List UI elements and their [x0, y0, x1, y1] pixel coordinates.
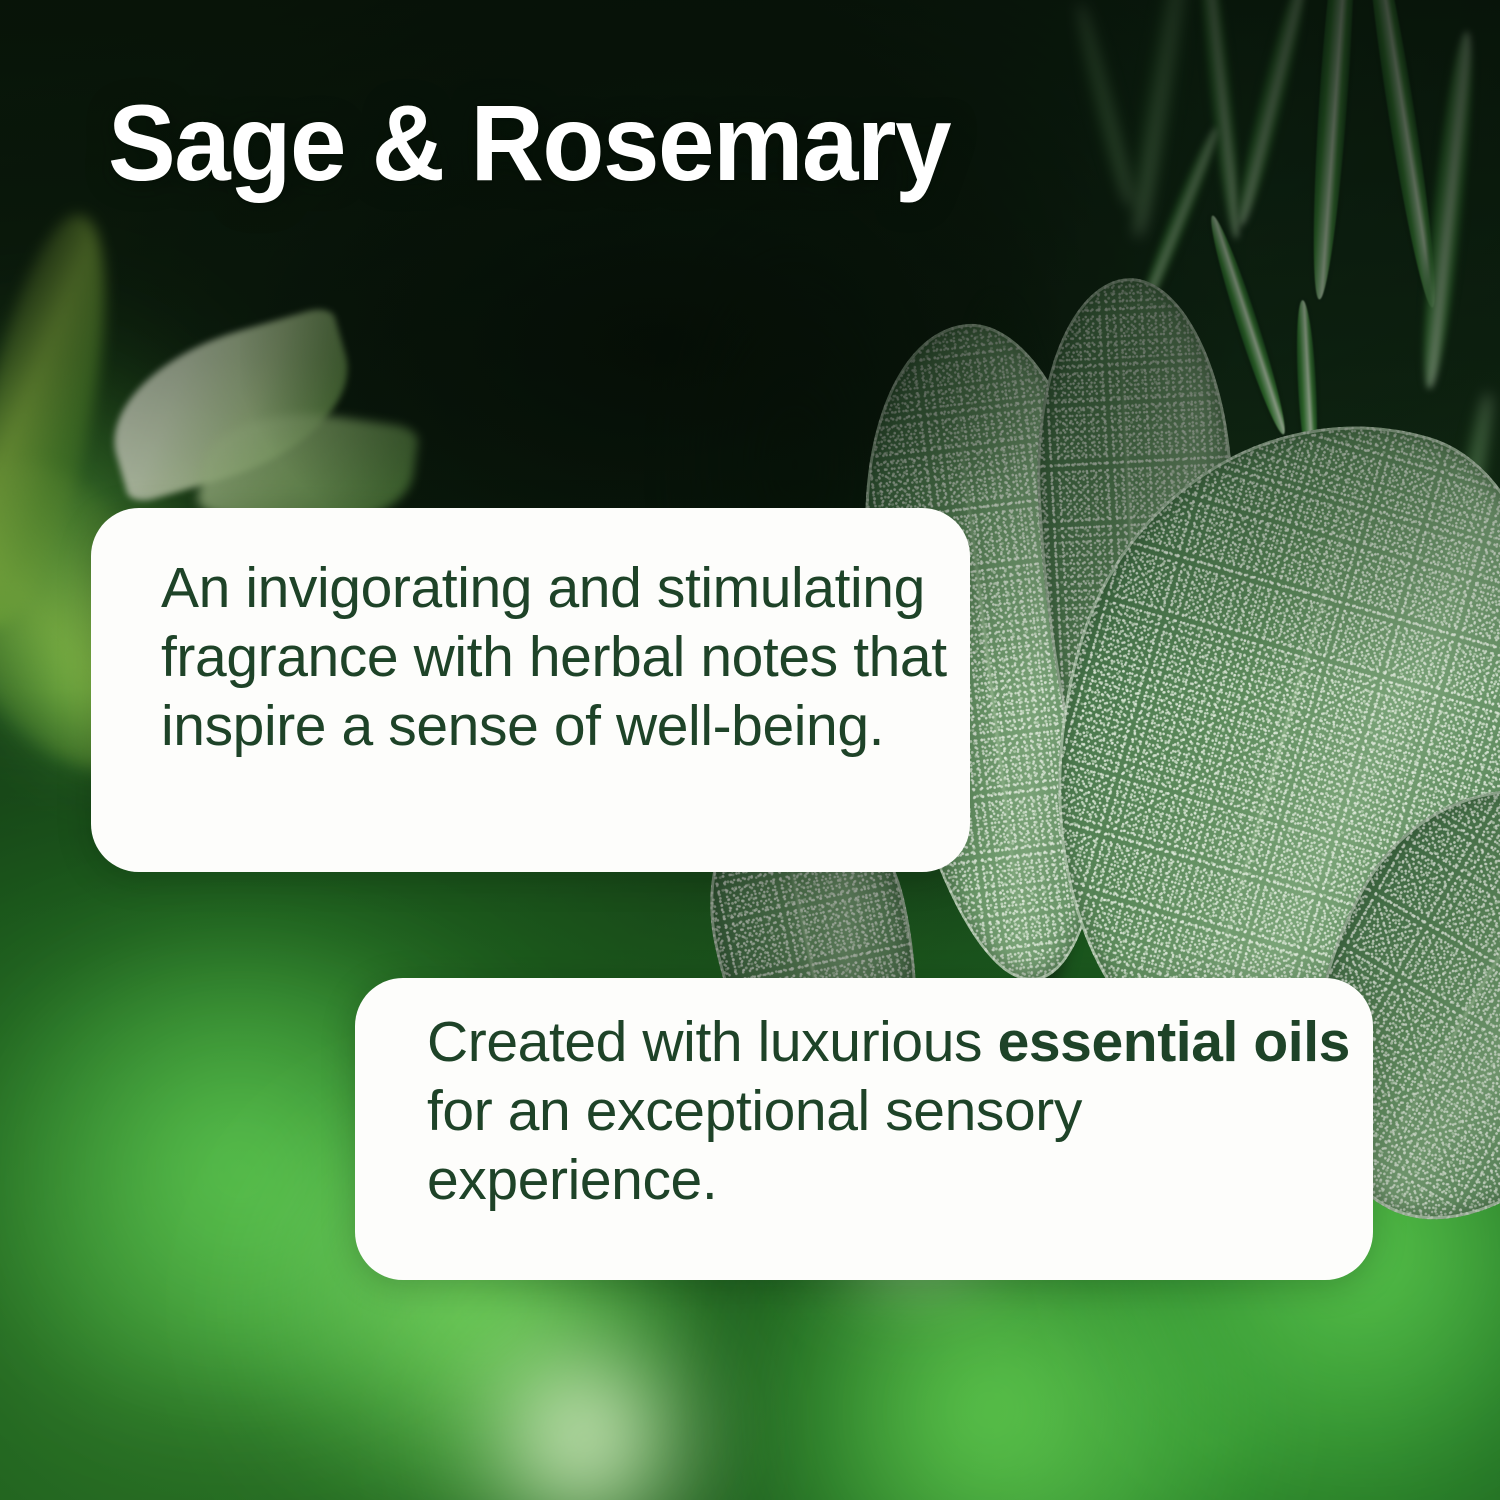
essential-oils-text-tail: for an exceptional sensory experience.	[427, 1079, 1082, 1212]
fragrance-description-card: An invigorating and stimulating fragranc…	[91, 508, 970, 872]
essential-oils-text: Created with luxurious essential oils fo…	[427, 1008, 1357, 1215]
essential-oils-card: Created with luxurious essential oils fo…	[355, 978, 1373, 1280]
essential-oils-emphasis: essential oils	[998, 1010, 1350, 1074]
fragrance-description-text: An invigorating and stimulating fragranc…	[161, 554, 951, 761]
product-feature-image: Sage & Rosemary An invigorating and stim…	[0, 0, 1500, 1500]
essential-oils-text-lead: Created with luxurious	[427, 1010, 982, 1074]
page-title: Sage & Rosemary	[108, 88, 950, 198]
